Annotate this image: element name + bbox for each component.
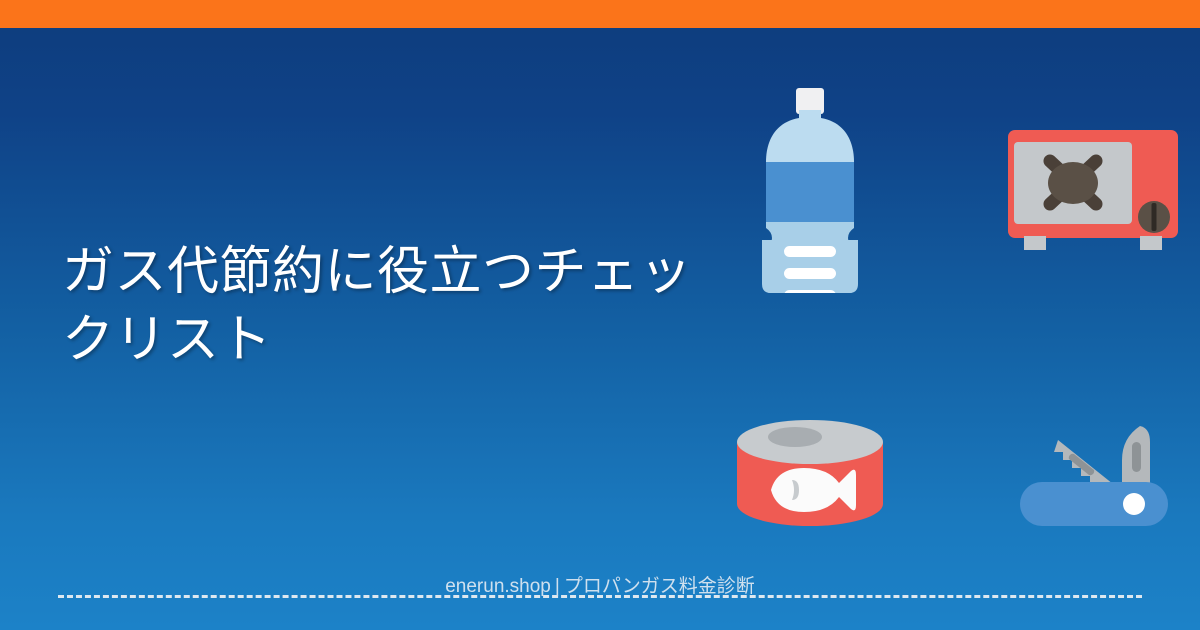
water-bottle-icon <box>760 88 860 293</box>
footer: enerun.shop|プロパンガス料金診断 <box>58 574 1142 600</box>
top-accent-bar <box>0 0 1200 28</box>
canned-fish-icon <box>735 418 885 530</box>
footer-text: enerun.shop|プロパンガス料金診断 <box>58 574 1142 600</box>
og-card: ガス代節約に役立つチェックリスト <box>0 0 1200 630</box>
safe-icon <box>1008 128 1178 256</box>
footer-tagline: プロパンガス料金診断 <box>564 576 755 597</box>
footer-separator: | <box>551 576 564 597</box>
footer-site: enerun.shop <box>445 576 551 597</box>
page-title: ガス代節約に役立つチェックリスト <box>62 238 742 374</box>
page-title-wrap: ガス代節約に役立つチェックリスト <box>62 238 742 374</box>
pocket-knife-icon <box>1018 420 1170 530</box>
